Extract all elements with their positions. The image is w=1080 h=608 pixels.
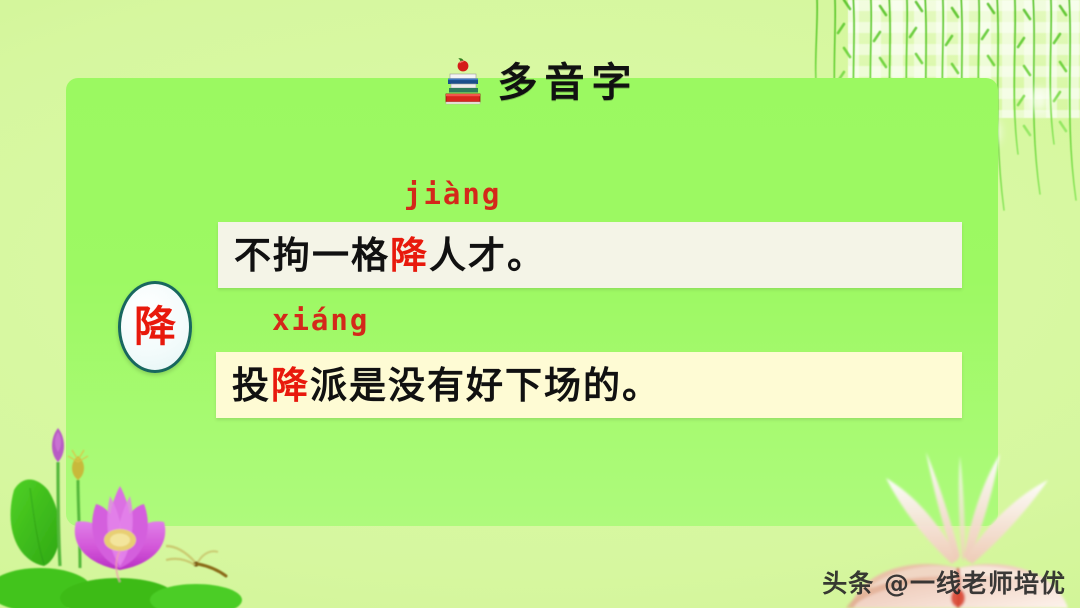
pinyin-jiang: jiàng (404, 180, 501, 209)
sentence-2-highlight: 降 (271, 367, 310, 404)
headword-character: 降 (134, 306, 176, 348)
sentence-1-after: 人才。 (429, 237, 546, 274)
sentence-1-highlight: 降 (390, 237, 429, 274)
example-sentence-1: 不拘一格降人才。 (218, 222, 962, 288)
headword-character-card: 降 (118, 281, 192, 373)
watermark-text: 头条 @一线老师培优 (822, 564, 1066, 600)
slide-canvas: 多音字 降 jiàng 不拘一格降人才。 xiáng 投降派是没有好下场的。 (0, 0, 1080, 608)
page-title: 多音字 (498, 63, 639, 103)
sentence-2-before: 投 (232, 367, 271, 404)
pinyin-xiang: xiáng (272, 306, 369, 335)
sentence-1-before: 不拘一格 (234, 237, 390, 274)
example-sentence-2: 投降派是没有好下场的。 (216, 352, 962, 418)
lotus-flower-decoration (0, 418, 250, 608)
sentence-2-after: 派是没有好下场的。 (310, 367, 661, 404)
book-stack-apple-icon (442, 58, 484, 108)
slide-title-group: 多音字 (0, 58, 1080, 108)
